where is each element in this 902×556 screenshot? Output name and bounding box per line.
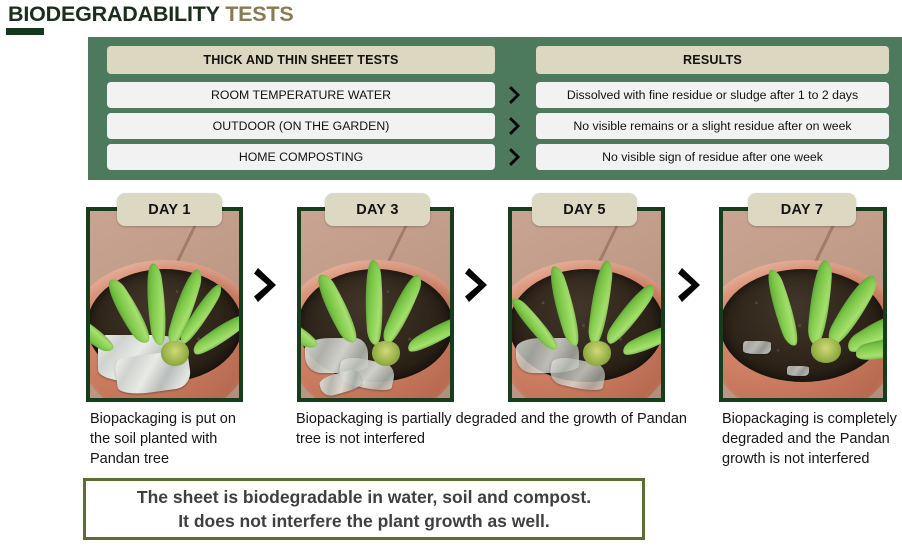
soil (720, 269, 887, 382)
day-label-3: DAY 3 (325, 193, 430, 226)
table-row: OUTDOOR (ON THE GARDEN) No visible remai… (107, 113, 889, 139)
test-name-room-temperature-water: ROOM TEMPERATURE WATER (107, 82, 495, 108)
terracotta-pot (86, 260, 243, 402)
photo-background (723, 211, 883, 398)
caption-day-1: Biopackaging is put on the soil planted … (90, 409, 260, 469)
chevron-right-icon (678, 266, 704, 304)
column-header-results: RESULTS (536, 46, 889, 74)
results-panel: THICK AND THIN SHEET TESTS RESULTS ROOM … (88, 37, 902, 180)
flow-arrow-3 (678, 266, 704, 304)
chevron-right-icon (509, 147, 522, 167)
page-title: BIODEGRADABILITY TESTS (8, 2, 508, 26)
result-room-temperature-water: Dissolved with fine residue or sludge af… (536, 82, 889, 108)
result-outdoor-garden: No visible remains or a slight residue a… (536, 113, 889, 139)
day-label-1: DAY 1 (117, 193, 222, 226)
row-arrow-3 (495, 147, 536, 167)
results-table-header-row: THICK AND THIN SHEET TESTS RESULTS (107, 46, 889, 74)
test-name-home-composting: HOME COMPOSTING (107, 144, 495, 170)
biopackaging-residue (787, 366, 809, 375)
chevron-right-icon (254, 266, 280, 304)
chevron-right-icon (509, 85, 522, 105)
page-title-accent: TESTS (225, 2, 293, 26)
flow-arrow-1 (254, 266, 280, 304)
table-row: ROOM TEMPERATURE WATER Dissolved with fi… (107, 82, 889, 108)
terracotta-pot (297, 260, 454, 402)
result-home-composting: No visible sign of residue after one wee… (536, 144, 889, 170)
photo-day-7 (719, 207, 887, 402)
row-arrow-2 (495, 116, 536, 136)
day-label-7: DAY 7 (748, 193, 856, 226)
terracotta-pot (719, 260, 887, 402)
chevron-right-icon (465, 266, 491, 304)
photo-background (90, 211, 239, 398)
page-title-main: BIODEGRADABILITY (8, 2, 225, 26)
photo-day-3 (297, 207, 454, 402)
flow-arrow-2 (465, 266, 491, 304)
photo-background (512, 211, 661, 398)
caption-day-3-5: Biopackaging is partially degraded and t… (296, 409, 696, 449)
chevron-right-icon (509, 116, 522, 136)
row-arrow-1 (495, 85, 536, 105)
conclusion-box: The sheet is biodegradable in water, soi… (83, 478, 645, 540)
photo-day-1 (86, 207, 243, 402)
day-label-5: DAY 5 (532, 193, 637, 226)
column-header-tests: THICK AND THIN SHEET TESTS (107, 46, 495, 74)
table-row: HOME COMPOSTING No visible sign of resid… (107, 144, 889, 170)
biopackaging-residue (743, 341, 771, 354)
test-name-outdoor-garden: OUTDOOR (ON THE GARDEN) (107, 113, 495, 139)
terracotta-pot (508, 260, 665, 402)
conclusion-line-2: It does not interfere the plant growth a… (178, 509, 549, 533)
photo-day-5 (508, 207, 665, 402)
caption-day-7: Biopackaging is completely degraded and … (722, 409, 900, 469)
title-underline-bar (6, 28, 44, 35)
photo-background (301, 211, 450, 398)
conclusion-line-1: The sheet is biodegradable in water, soi… (137, 485, 591, 509)
